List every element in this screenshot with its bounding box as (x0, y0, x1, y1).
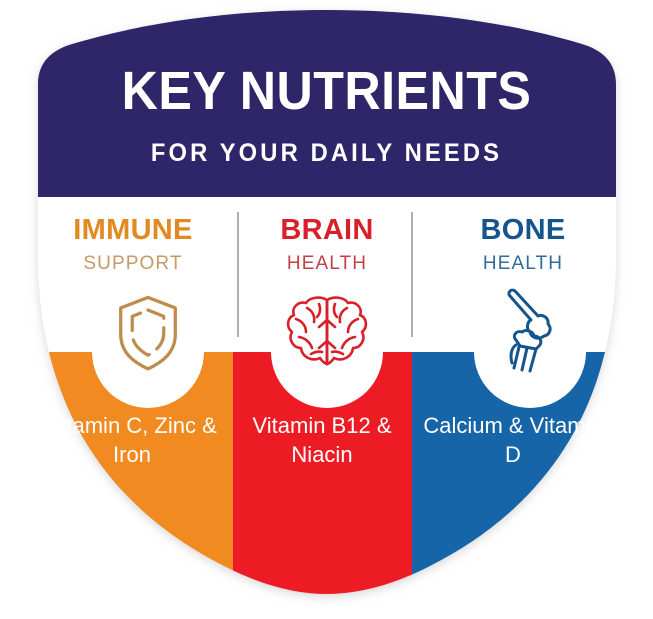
nutrient-list-immune: Vitamin C, Zinc & Iron (37, 412, 227, 469)
category-title-bone: BONE (418, 216, 628, 245)
column-brain[interactable]: BRAIN HEALTH (222, 216, 432, 273)
category-title-brain: BRAIN (222, 216, 432, 245)
nutrient-list-bone: Calcium & Vitamin D (418, 412, 608, 469)
category-subtitle-brain: HEALTH (222, 254, 432, 273)
column-bone[interactable]: BONE HEALTH (418, 216, 628, 273)
category-subtitle-bone: HEALTH (418, 254, 628, 273)
category-title-immune: IMMUNE (28, 216, 238, 245)
key-nutrients-shield-infographic: KEY NUTRIENTS FOR YOUR DAILY NEEDS IMMUN… (0, 0, 653, 619)
nutrient-list-brain: Vitamin B12 & Niacin (227, 412, 417, 469)
column-immune[interactable]: IMMUNE SUPPORT (28, 216, 238, 273)
page-subtitle: FOR YOUR DAILY NEEDS (16, 141, 636, 166)
page-title: KEY NUTRIENTS (23, 64, 630, 118)
category-subtitle-immune: SUPPORT (28, 254, 238, 273)
